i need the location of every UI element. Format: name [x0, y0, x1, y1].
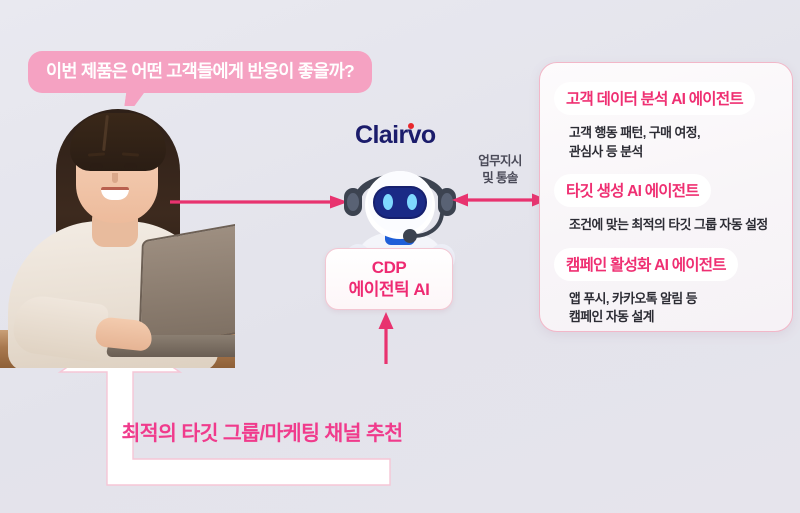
laptop-screen: [138, 221, 235, 352]
clairvo-logo: Clairvo: [355, 121, 436, 150]
agent-title-2: 캠페인 활성화 AI 에이전트: [554, 248, 738, 281]
arrow-person-to-robot: [170, 194, 350, 210]
cdp-box-line1: CDP: [372, 258, 406, 278]
cdp-box-line2: 에이전틱 AI: [349, 280, 430, 300]
connector-label: 업무지시 및 통솔: [452, 153, 548, 186]
diagram-canvas: 최적의 타깃 그룹/마케팅 채널 추천 이번 제품은 어떤 고객들에게 반응이 …: [0, 0, 800, 513]
eye-right: [124, 163, 137, 168]
arrow-robot-to-agents: [452, 192, 548, 208]
agent-title-pill-2[interactable]: 캠페인 활성화 AI 에이전트: [554, 248, 738, 281]
hair-top: [70, 113, 166, 171]
bottom-recommendation-label: 최적의 타깃 그룹/마케팅 채널 추천: [97, 409, 427, 453]
agent-block-1: 타깃 생성 AI 에이전트 조건에 맞는 최적의 타깃 그룹 자동 설정: [554, 174, 778, 235]
person-photo: [0, 103, 235, 368]
agent-desc-0: 고객 행동 패턴, 구매 여정, 관심사 등 분석: [569, 124, 778, 161]
agent-desc-1: 조건에 맞는 최적의 타깃 그룹 자동 설정: [569, 216, 778, 235]
connector-label-line1: 업무지시: [452, 153, 548, 170]
logo-i-dot-icon: [408, 123, 414, 129]
nose: [112, 173, 118, 183]
agent-title-pill-1[interactable]: 타깃 생성 AI 에이전트: [554, 174, 711, 207]
agent-block-2: 캠페인 활성화 AI 에이전트 앱 푸시, 카카오톡 알림 등 캠페인 자동 설…: [554, 248, 778, 327]
eye-left: [90, 163, 103, 168]
agent-block-0: 고객 데이터 분석 AI 에이전트 고객 행동 패턴, 구매 여정, 관심사 등…: [554, 82, 778, 161]
cdp-agentic-ai-box: CDP 에이전틱 AI: [325, 248, 453, 310]
speech-bubble: 이번 제품은 어떤 고객들에게 반응이 좋을까?: [28, 51, 372, 93]
agent-desc-2: 앱 푸시, 카카오톡 알림 등 캠페인 자동 설계: [569, 290, 778, 327]
connector-label-line2: 및 통솔: [452, 170, 548, 187]
agent-title-pill-0[interactable]: 고객 데이터 분석 AI 에이전트: [554, 82, 755, 115]
ai-agents-panel: 고객 데이터 분석 AI 에이전트 고객 행동 패턴, 구매 여정, 관심사 등…: [539, 62, 793, 332]
logo-text: Clairvo: [355, 121, 436, 149]
arrow-loop-to-cdp: [374, 312, 398, 364]
agent-title-0: 고객 데이터 분석 AI 에이전트: [554, 82, 755, 115]
agent-title-1: 타깃 생성 AI 에이전트: [554, 174, 711, 207]
